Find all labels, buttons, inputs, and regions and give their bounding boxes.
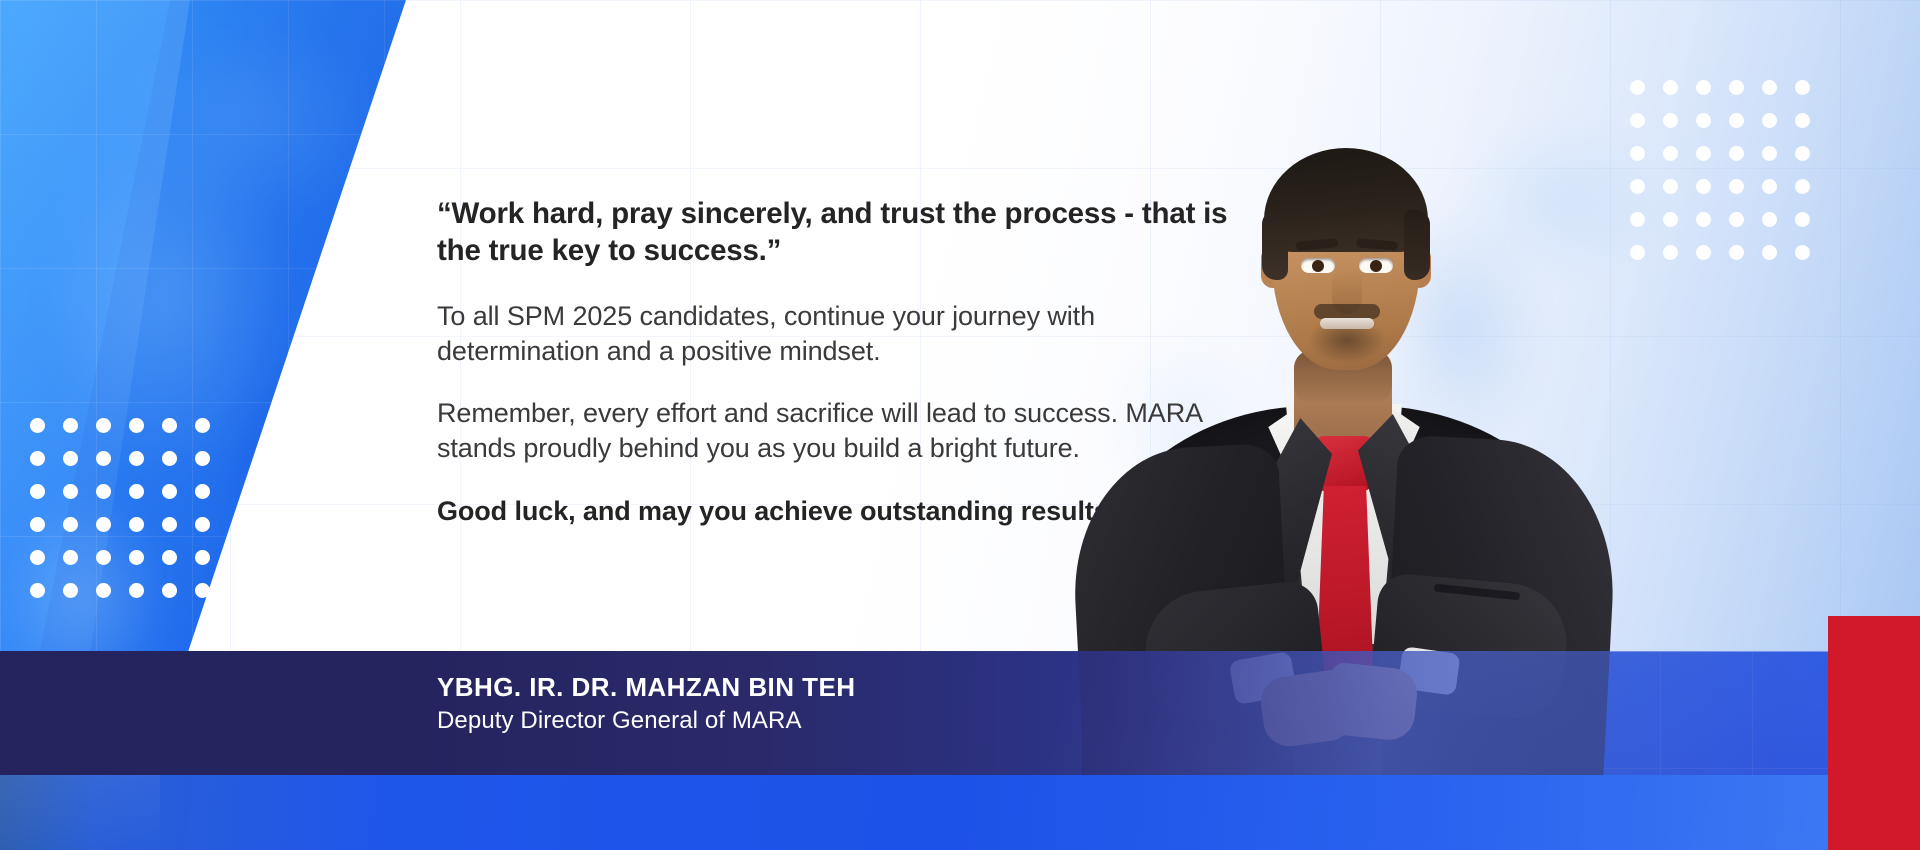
dot-icon	[30, 451, 45, 466]
dot-icon	[63, 583, 78, 598]
dot-icon	[1795, 113, 1810, 128]
dot-icon	[1630, 80, 1645, 95]
dot-icon	[1795, 179, 1810, 194]
dot-icon	[1663, 113, 1678, 128]
pupil-right	[1370, 260, 1382, 272]
person-name: YBHG. IR. DR. MAHZAN BIN TEH	[437, 672, 855, 704]
bottom-strip-left-texture	[0, 775, 160, 850]
dot-icon	[96, 484, 111, 499]
dot-icon	[129, 418, 144, 433]
name-bar-sheen	[0, 651, 1920, 775]
dot-icon	[1630, 179, 1645, 194]
hair-sideburn-left	[1262, 210, 1288, 280]
dot-icon	[1696, 80, 1711, 95]
dot-icon	[63, 550, 78, 565]
dot-icon	[1696, 113, 1711, 128]
dot-icon	[129, 484, 144, 499]
dot-icon	[1729, 212, 1744, 227]
dot-icon	[1762, 179, 1777, 194]
dot-icon	[195, 484, 210, 499]
dot-icon	[30, 550, 45, 565]
dot-icon	[162, 583, 177, 598]
dot-icon	[162, 517, 177, 532]
dot-grid-left	[30, 418, 228, 616]
dot-icon	[1795, 245, 1810, 260]
dot-icon	[30, 484, 45, 499]
dot-icon	[1696, 245, 1711, 260]
dot-icon	[63, 451, 78, 466]
dot-icon	[1729, 80, 1744, 95]
dot-icon	[1663, 245, 1678, 260]
dot-icon	[129, 550, 144, 565]
dot-icon	[1762, 212, 1777, 227]
dot-icon	[63, 517, 78, 532]
dot-icon	[195, 550, 210, 565]
name-title-bar	[0, 651, 1920, 775]
dot-icon	[1696, 146, 1711, 161]
red-corner-accent	[1828, 616, 1920, 850]
dot-icon	[195, 451, 210, 466]
dot-icon	[63, 484, 78, 499]
dot-icon	[1630, 245, 1645, 260]
bottom-blue-strip	[0, 775, 1920, 850]
dot-icon	[1795, 80, 1810, 95]
dot-icon	[1762, 80, 1777, 95]
dot-icon	[1762, 245, 1777, 260]
dot-grid-right	[1630, 80, 1828, 278]
dot-icon	[96, 418, 111, 433]
mara-spm-congratulation-banner: “Work hard, pray sincerely, and trust th…	[0, 0, 1920, 850]
dot-icon	[129, 451, 144, 466]
dot-icon	[162, 550, 177, 565]
dot-icon	[129, 517, 144, 532]
dot-icon	[96, 517, 111, 532]
dot-icon	[1729, 113, 1744, 128]
person-role: Deputy Director General of MARA	[437, 706, 855, 736]
dot-icon	[1729, 146, 1744, 161]
dot-icon	[1729, 245, 1744, 260]
mouth	[1320, 318, 1374, 329]
dot-icon	[1729, 179, 1744, 194]
dot-icon	[30, 583, 45, 598]
dot-icon	[1630, 212, 1645, 227]
name-title-block: YBHG. IR. DR. MAHZAN BIN TEH Deputy Dire…	[437, 672, 855, 736]
dot-icon	[96, 451, 111, 466]
hair-sideburn-right	[1404, 210, 1430, 280]
dot-icon	[1663, 80, 1678, 95]
dot-icon	[195, 517, 210, 532]
dot-icon	[63, 418, 78, 433]
dot-icon	[162, 451, 177, 466]
dot-icon	[1663, 212, 1678, 227]
dot-icon	[1630, 146, 1645, 161]
dot-icon	[162, 484, 177, 499]
dot-icon	[1696, 212, 1711, 227]
dot-icon	[195, 418, 210, 433]
dot-icon	[1696, 179, 1711, 194]
dot-icon	[162, 418, 177, 433]
dot-icon	[30, 517, 45, 532]
dot-icon	[1795, 146, 1810, 161]
dot-icon	[1630, 113, 1645, 128]
dot-icon	[195, 583, 210, 598]
dot-icon	[1795, 212, 1810, 227]
dot-icon	[1762, 113, 1777, 128]
pupil-left	[1312, 260, 1324, 272]
dot-icon	[1663, 179, 1678, 194]
dot-icon	[1762, 146, 1777, 161]
dot-icon	[96, 550, 111, 565]
dot-icon	[129, 583, 144, 598]
dot-icon	[1663, 146, 1678, 161]
moustache	[1314, 304, 1380, 319]
dot-icon	[30, 418, 45, 433]
dot-icon	[96, 583, 111, 598]
